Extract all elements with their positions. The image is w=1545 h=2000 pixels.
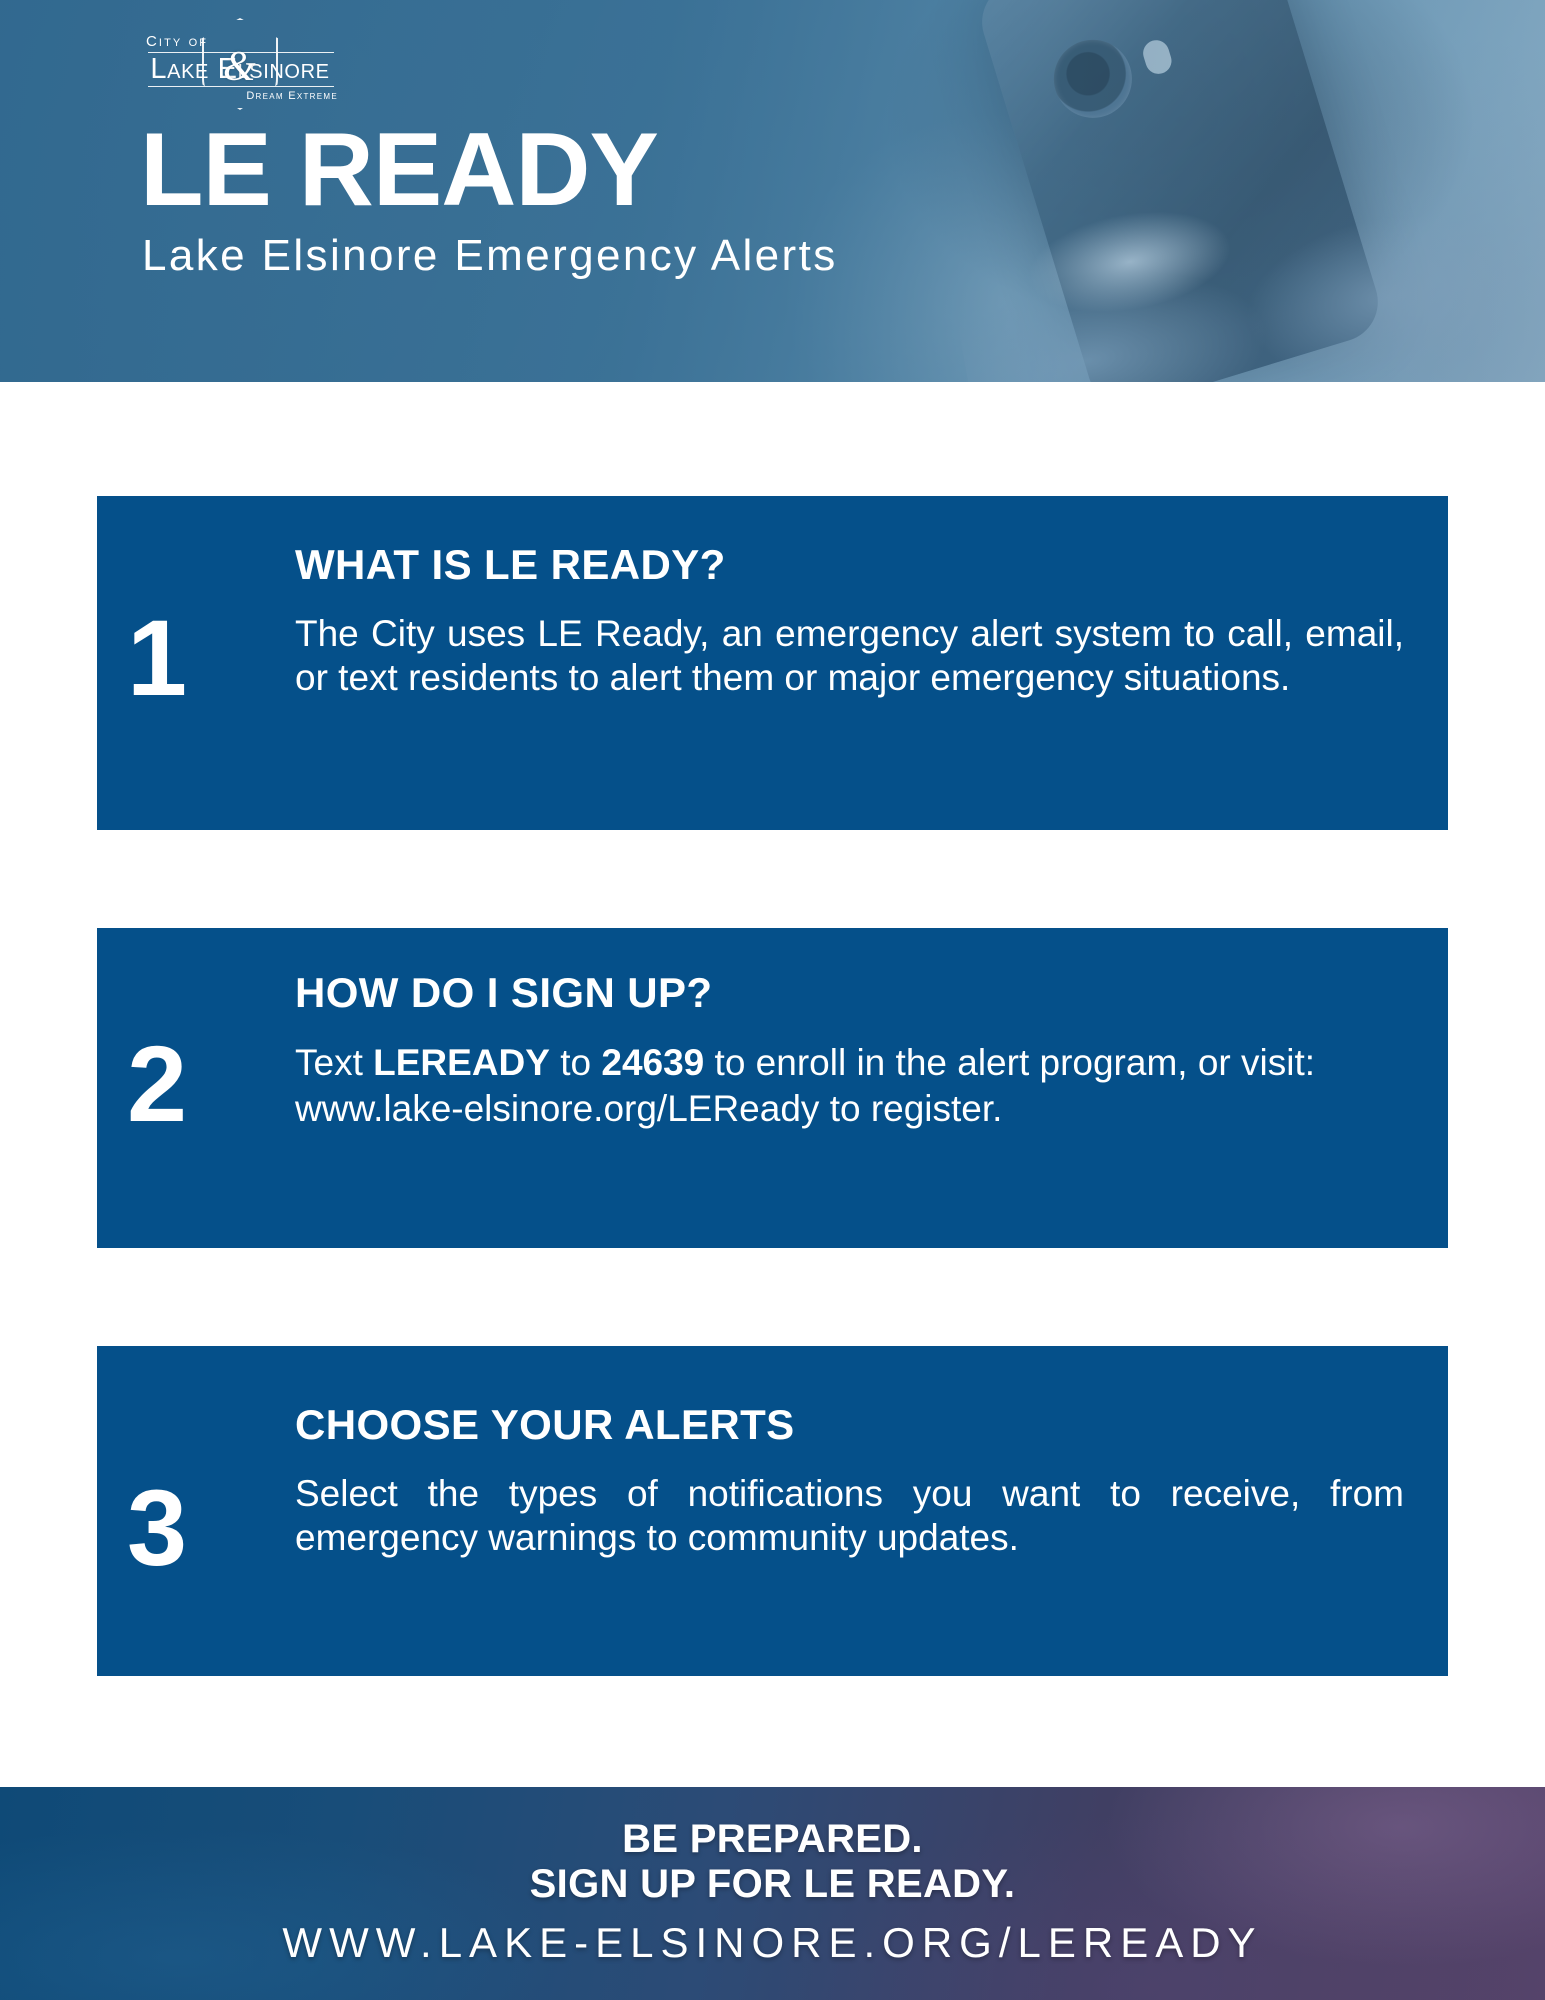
sms-shortcode: 24639 — [601, 1042, 704, 1083]
logo-ampersand-emblem-icon: & — [223, 46, 256, 88]
page-title: LE READY — [140, 118, 658, 222]
footer-line-2: SIGN UP FOR LE READY. — [0, 1862, 1545, 1907]
step-body-1: WHAT IS LE READY? The City uses LE Ready… — [295, 544, 1404, 701]
step-body-3: CHOOSE YOUR ALERTS Select the types of n… — [295, 1404, 1404, 1561]
footer-content: BE PREPARED. SIGN UP FOR LE READY. WWW.L… — [0, 1787, 1545, 1967]
footer-line-1: BE PREPARED. — [0, 1817, 1545, 1862]
step-body-2: HOW DO I SIGN UP? Text LEREADY to 24639 … — [295, 972, 1404, 1133]
footer-banner: BE PREPARED. SIGN UP FOR LE READY. WWW.L… — [0, 1787, 1545, 2000]
step-heading-2: HOW DO I SIGN UP? — [295, 972, 1404, 1014]
step-card-3: 3 CHOOSE YOUR ALERTS Select the types of… — [97, 1346, 1448, 1676]
step-number-3: 3 — [127, 1474, 185, 1582]
page-subtitle: Lake Elsinore Emergency Alerts — [142, 234, 838, 278]
step-heading-1: WHAT IS LE READY? — [295, 544, 1404, 586]
step-text-2: Text LEREADY to 24639 to enroll in the a… — [295, 1040, 1404, 1133]
city-logo: City of Lake Elsinore & Dream Extreme — [140, 16, 340, 104]
step-number-2: 2 — [127, 1030, 185, 1138]
step-text-3: Select the types of notifications you wa… — [295, 1472, 1404, 1561]
step-heading-3: CHOOSE YOUR ALERTS — [295, 1404, 1404, 1446]
step2-text-pre: Text — [295, 1042, 373, 1083]
step2-text-mid: to — [550, 1042, 601, 1083]
step-text-1: The City uses LE Ready, an emergency ale… — [295, 612, 1404, 701]
poster-page: City of Lake Elsinore & Dream Extreme LE… — [0, 0, 1545, 2000]
step-card-2: 2 HOW DO I SIGN UP? Text LEREADY to 2463… — [97, 928, 1448, 1248]
step-number-1: 1 — [127, 604, 185, 712]
logo-tagline: Dream Extreme — [140, 90, 340, 102]
footer-website-url[interactable]: WWW.LAKE-ELSINORE.ORG/LEREADY — [0, 1919, 1545, 1967]
logo-rule-bottom — [148, 86, 334, 87]
step-card-1: 1 WHAT IS LE READY? The City uses LE Rea… — [97, 496, 1448, 830]
sms-keyword: LEREADY — [373, 1042, 550, 1083]
header-banner: City of Lake Elsinore & Dream Extreme LE… — [0, 0, 1545, 382]
